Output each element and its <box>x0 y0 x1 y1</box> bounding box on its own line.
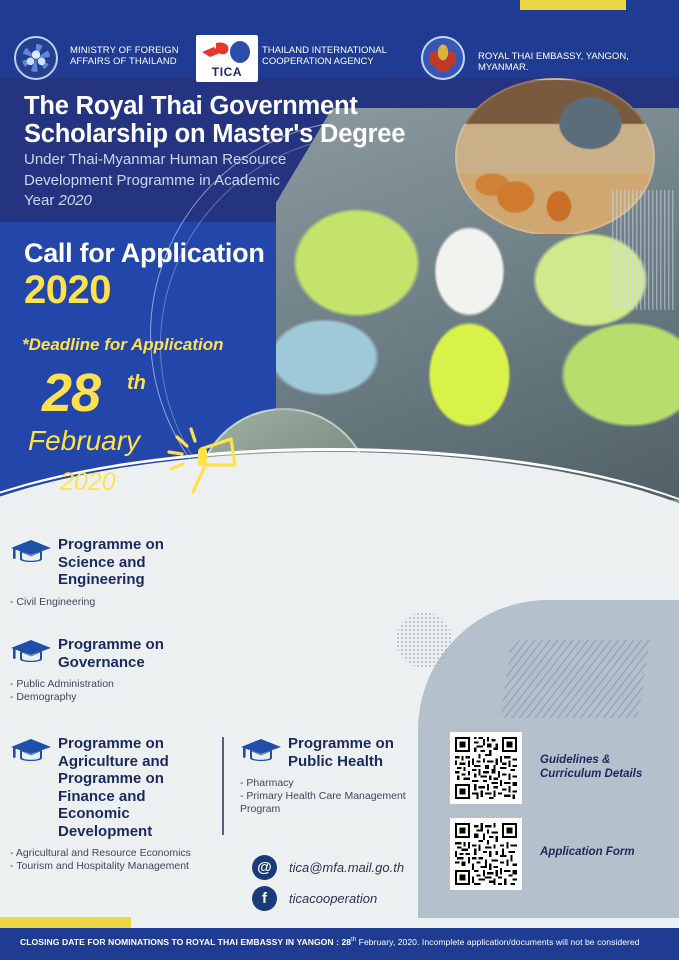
decorative-diagonal-stripes <box>500 640 650 718</box>
column-divider <box>222 737 224 835</box>
footer-lead: CLOSING DATE FOR NOMINATIONS TO ROYAL TH… <box>20 937 351 947</box>
tica-label: THAILAND INTERNATIONAL COOPERATION AGENC… <box>262 45 392 67</box>
programme-items: - Civil Engineering <box>10 596 210 609</box>
qr-code-guidelines[interactable] <box>450 732 522 804</box>
tica-wordmark: TICA <box>196 65 258 79</box>
graduation-cap-icon <box>240 737 282 765</box>
deadline-label: *Deadline for Application <box>22 335 224 355</box>
mfa-label: MINISTRY OF FOREIGN AFFAIRS OF THAILAND <box>70 45 190 67</box>
royal-thai-embassy-garuda-icon <box>421 36 465 80</box>
yellow-top-accent <box>520 0 626 10</box>
qr-code-icon <box>455 823 517 885</box>
programme-items: - Agricultural and Resource Economics - … <box>10 847 205 873</box>
page-subtitle: Under Thai-Myanmar Human Resource Develo… <box>24 150 384 212</box>
qr-code-icon <box>455 737 517 799</box>
tica-mark-icon <box>200 39 254 65</box>
programme-title: Programme on Agriculture and Programme o… <box>58 735 205 840</box>
contact-facebook[interactable]: f ticacooperation <box>252 886 377 911</box>
contact-facebook-value: ticacooperation <box>289 891 377 906</box>
decorative-dot-circle <box>396 612 452 668</box>
page-title: The Royal Thai Government Scholarship on… <box>24 92 464 148</box>
header-logo-row: MINISTRY OF FOREIGN AFFAIRS OF THAILAND … <box>0 16 679 66</box>
scholarship-poster: MINISTRY OF FOREIGN AFFAIRS OF THAILAND … <box>0 0 679 960</box>
tica-logo: TICA <box>196 35 258 82</box>
deadline-month: February <box>28 425 140 457</box>
subtitle-line-3: Year 2020 <box>24 191 384 212</box>
qr-label-application-form: Application Form <box>540 845 670 859</box>
graduation-cap-icon <box>10 538 52 566</box>
subtitle-year: 2020 <box>58 192 91 209</box>
subtitle-line-2: Development Programme in Academic <box>24 171 384 192</box>
footer-text: CLOSING DATE FOR NOMINATIONS TO ROYAL TH… <box>20 937 640 947</box>
footer-tail: February, 2020. Incomplete application/d… <box>356 937 639 947</box>
subtitle-year-prefix: Year <box>24 192 58 209</box>
contact-email[interactable]: @ tica@mfa.mail.go.th <box>252 855 404 880</box>
facebook-icon: f <box>252 886 277 911</box>
programme-items: - Pharmacy - Primary Health Care Managem… <box>240 777 440 816</box>
qr-code-application-form[interactable] <box>450 818 522 890</box>
embassy-label: ROYAL THAI EMBASSY, YANGON, MYANMAR. <box>478 51 679 73</box>
graduation-cap-icon <box>10 737 52 765</box>
yellow-bottom-accent <box>0 917 131 928</box>
programme-title: Programme on Public Health <box>288 735 440 770</box>
programme-governance: Programme on Governance - Public Adminis… <box>10 636 220 704</box>
thailand-mfa-seal-icon <box>14 36 58 80</box>
call-for-application-year: 2020 <box>24 268 111 313</box>
megaphone-icon <box>165 425 241 495</box>
subtitle-line-1: Under Thai-Myanmar Human Resource <box>24 150 384 171</box>
programme-agriculture-finance: Programme on Agriculture and Programme o… <box>10 735 205 873</box>
decorative-vertical-stripes <box>612 190 676 310</box>
programme-items: - Public Administration - Demography <box>10 678 220 704</box>
deadline-year: 2020 <box>60 468 116 497</box>
contact-email-value: tica@mfa.mail.go.th <box>289 860 404 875</box>
deadline-day: 28 <box>42 362 100 424</box>
programme-title: Programme on Governance <box>58 636 220 671</box>
programme-public-health: Programme on Public Health - Pharmacy - … <box>240 735 440 816</box>
graduation-cap-icon <box>10 638 52 666</box>
qr-label-guidelines: Guidelines & Curriculum Details <box>540 753 670 781</box>
at-sign-icon: @ <box>252 855 277 880</box>
deadline-day-suffix: th <box>127 372 146 395</box>
programme-science-engineering: Programme on Science and Engineering - C… <box>10 536 210 609</box>
programme-title: Programme on Science and Engineering <box>58 536 210 589</box>
call-for-application-label: Call for Application <box>24 238 265 269</box>
